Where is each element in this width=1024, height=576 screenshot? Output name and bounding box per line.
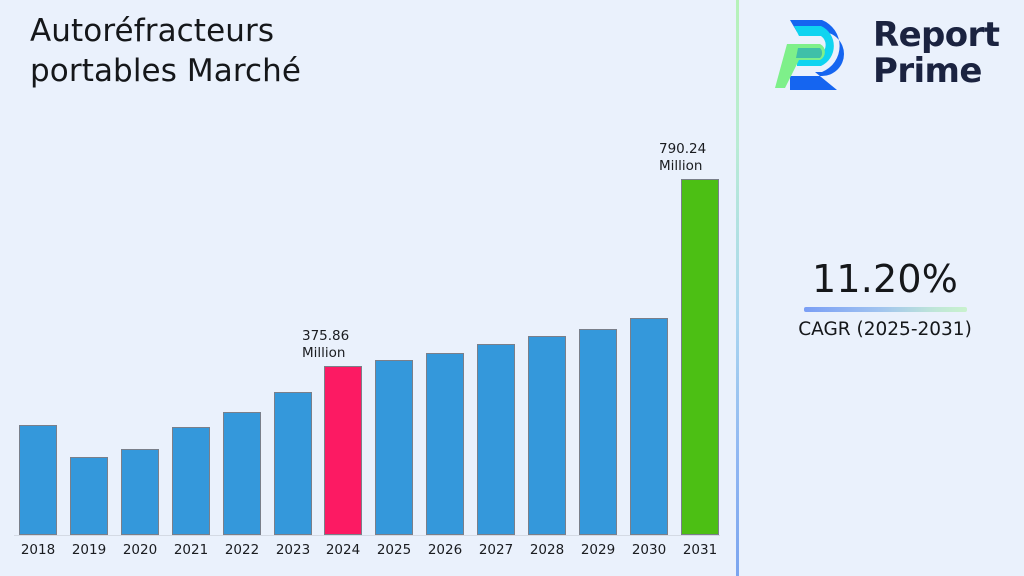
- cagr-caption: CAGR (2025-2031): [760, 318, 1010, 342]
- bar-2018[interactable]: [19, 425, 57, 535]
- x-tick-2026: 2026: [418, 541, 472, 559]
- bar-2026[interactable]: [426, 353, 464, 535]
- bar-value-label-2031: 790.24Million: [659, 141, 741, 175]
- x-tick-2031: 2031: [673, 541, 727, 559]
- x-tick-2027: 2027: [469, 541, 523, 559]
- infographic-root: Autoréfracteurs portables Marché Report …: [0, 0, 1024, 576]
- x-tick-2022: 2022: [215, 541, 269, 559]
- bar-2025[interactable]: [375, 360, 413, 535]
- x-tick-2018: 2018: [11, 541, 65, 559]
- bar-2021[interactable]: [172, 427, 210, 535]
- x-tick-2020: 2020: [113, 541, 167, 559]
- bar-value-label-2024-amount: 375.86: [302, 328, 384, 345]
- bar-2023[interactable]: [274, 392, 312, 535]
- bar-2031[interactable]: [681, 179, 719, 535]
- x-tick-2023: 2023: [266, 541, 320, 559]
- cagr-value: 11.20%: [760, 255, 1010, 303]
- x-tick-2030: 2030: [622, 541, 676, 559]
- bar-chart: 375.86Million790.24Million 2018201920202…: [0, 0, 736, 576]
- x-tick-2029: 2029: [571, 541, 625, 559]
- bar-2027[interactable]: [477, 344, 515, 535]
- brand-logo: Report Prime: [775, 12, 1007, 94]
- bar-value-label-2031-amount: 790.24: [659, 141, 741, 158]
- brand-logo-text-line-1: Report: [873, 17, 999, 53]
- bar-value-label-2024: 375.86Million: [302, 328, 384, 362]
- panel-divider: [736, 0, 739, 576]
- report-prime-r-mark-icon: [775, 14, 859, 92]
- bar-2020[interactable]: [121, 449, 159, 535]
- bar-value-label-2024-unit: Million: [302, 345, 384, 362]
- x-tick-2021: 2021: [164, 541, 218, 559]
- x-tick-2028: 2028: [520, 541, 574, 559]
- cagr-divider-rule: [804, 307, 967, 312]
- bar-2022[interactable]: [223, 412, 261, 535]
- bar-value-label-2031-unit: Million: [659, 158, 741, 175]
- x-tick-2025: 2025: [367, 541, 421, 559]
- brand-logo-text-line-2: Prime: [873, 53, 999, 89]
- cagr-panel: 11.20% CAGR (2025-2031): [760, 255, 1010, 342]
- bar-2019[interactable]: [70, 457, 108, 535]
- x-tick-2019: 2019: [62, 541, 116, 559]
- bar-2030[interactable]: [630, 318, 668, 535]
- x-axis-line: [14, 535, 720, 536]
- bar-2029[interactable]: [579, 329, 617, 535]
- x-tick-2024: 2024: [316, 541, 370, 559]
- bar-2024[interactable]: [324, 366, 362, 535]
- brand-logo-text: Report Prime: [873, 17, 999, 89]
- bar-2028[interactable]: [528, 336, 566, 535]
